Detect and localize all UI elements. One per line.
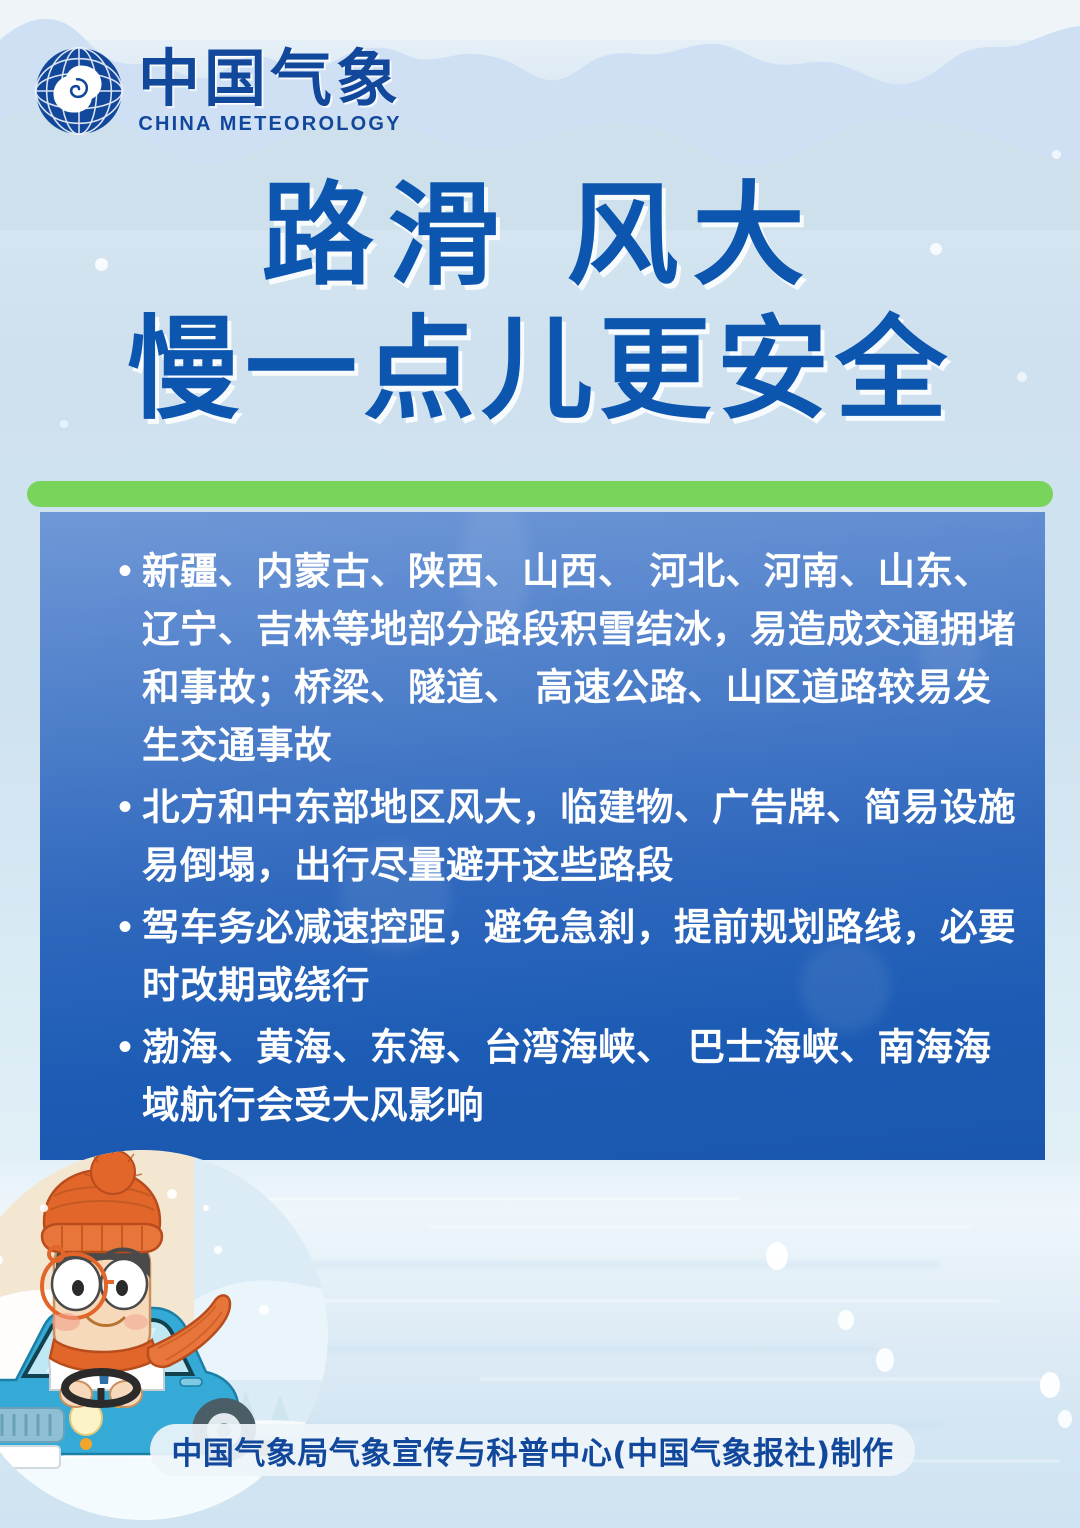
snow-dot [876, 1348, 894, 1372]
footer-credit-badge: 中国气象局气象宣传与科普中心(中国气象报社)制作 [150, 1424, 915, 1476]
snow-dot [766, 1242, 788, 1270]
globe-cloud-icon [30, 42, 128, 140]
green-divider-bar [27, 481, 1053, 507]
advisory-bullet-list: • 新疆、内蒙古、陕西、山西、 河北、河南、山东、辽宁、吉林等地部分路段积雪结冰… [118, 542, 1021, 1138]
headline-line-1: 路滑 风大 [0, 178, 1080, 296]
list-item: • 驾车务必减速控距，避免急刹，提前规划路线，必要时改期或绕行 [118, 898, 1021, 1014]
snow-streak [430, 1226, 970, 1228]
page-title: 路滑 风大 慢一点儿更安全 [0, 178, 1080, 429]
brand-wordmark: 中国气象 CHINA METEOROLOGY [138, 48, 402, 134]
snow-dot [838, 1310, 854, 1330]
snow-dot [1040, 1372, 1060, 1398]
brand-name-cn: 中国气象 [138, 48, 402, 110]
snow-streak [300, 1300, 1000, 1302]
bullet-dot-icon: • [118, 542, 142, 600]
snow-streak [480, 1378, 1040, 1380]
list-item-text: 驾车务必减速控距，避免急刹，提前规划路线，必要时改期或绕行 [142, 898, 1021, 1014]
headline-line-2: 慢一点儿更安全 [0, 312, 1080, 430]
list-item-text: 新疆、内蒙古、陕西、山西、 河北、河南、山东、辽宁、吉林等地部分路段积雪结冰，易… [142, 542, 1021, 774]
snow-dot [1052, 150, 1061, 159]
brand-name-en: CHINA METEOROLOGY [138, 114, 401, 134]
list-item-text: 北方和中东部地区风大，临建物、广告牌、简易设施易倒塌，出行尽量避开这些路段 [142, 778, 1021, 894]
poster-canvas: 中国气象 CHINA METEOROLOGY 路滑 风大 慢一点儿更安全 • 新… [0, 0, 1080, 1528]
advisory-content-box: • 新疆、内蒙古、陕西、山西、 河北、河南、山东、辽宁、吉林等地部分路段积雪结冰… [40, 512, 1045, 1160]
list-item: • 北方和中东部地区风大，临建物、广告牌、简易设施易倒塌，出行尽量避开这些路段 [118, 778, 1021, 894]
bullet-dot-icon: • [118, 778, 142, 836]
footer-credit-text: 中国气象局气象宣传与科普中心(中国气象报社)制作 [171, 1428, 893, 1473]
bullet-dot-icon: • [118, 1018, 142, 1076]
list-item: • 新疆、内蒙古、陕西、山西、 河北、河南、山东、辽宁、吉林等地部分路段积雪结冰… [118, 542, 1021, 774]
list-item-text: 渤海、黄海、东海、台湾海峡、 巴士海峡、南海海域航行会受大风影响 [142, 1018, 1021, 1134]
brand-logo: 中国气象 CHINA METEOROLOGY [30, 42, 402, 140]
bullet-dot-icon: • [118, 898, 142, 956]
list-item: • 渤海、黄海、东海、台湾海峡、 巴士海峡、南海海域航行会受大风影响 [118, 1018, 1021, 1134]
snow-dot [1058, 1410, 1072, 1428]
